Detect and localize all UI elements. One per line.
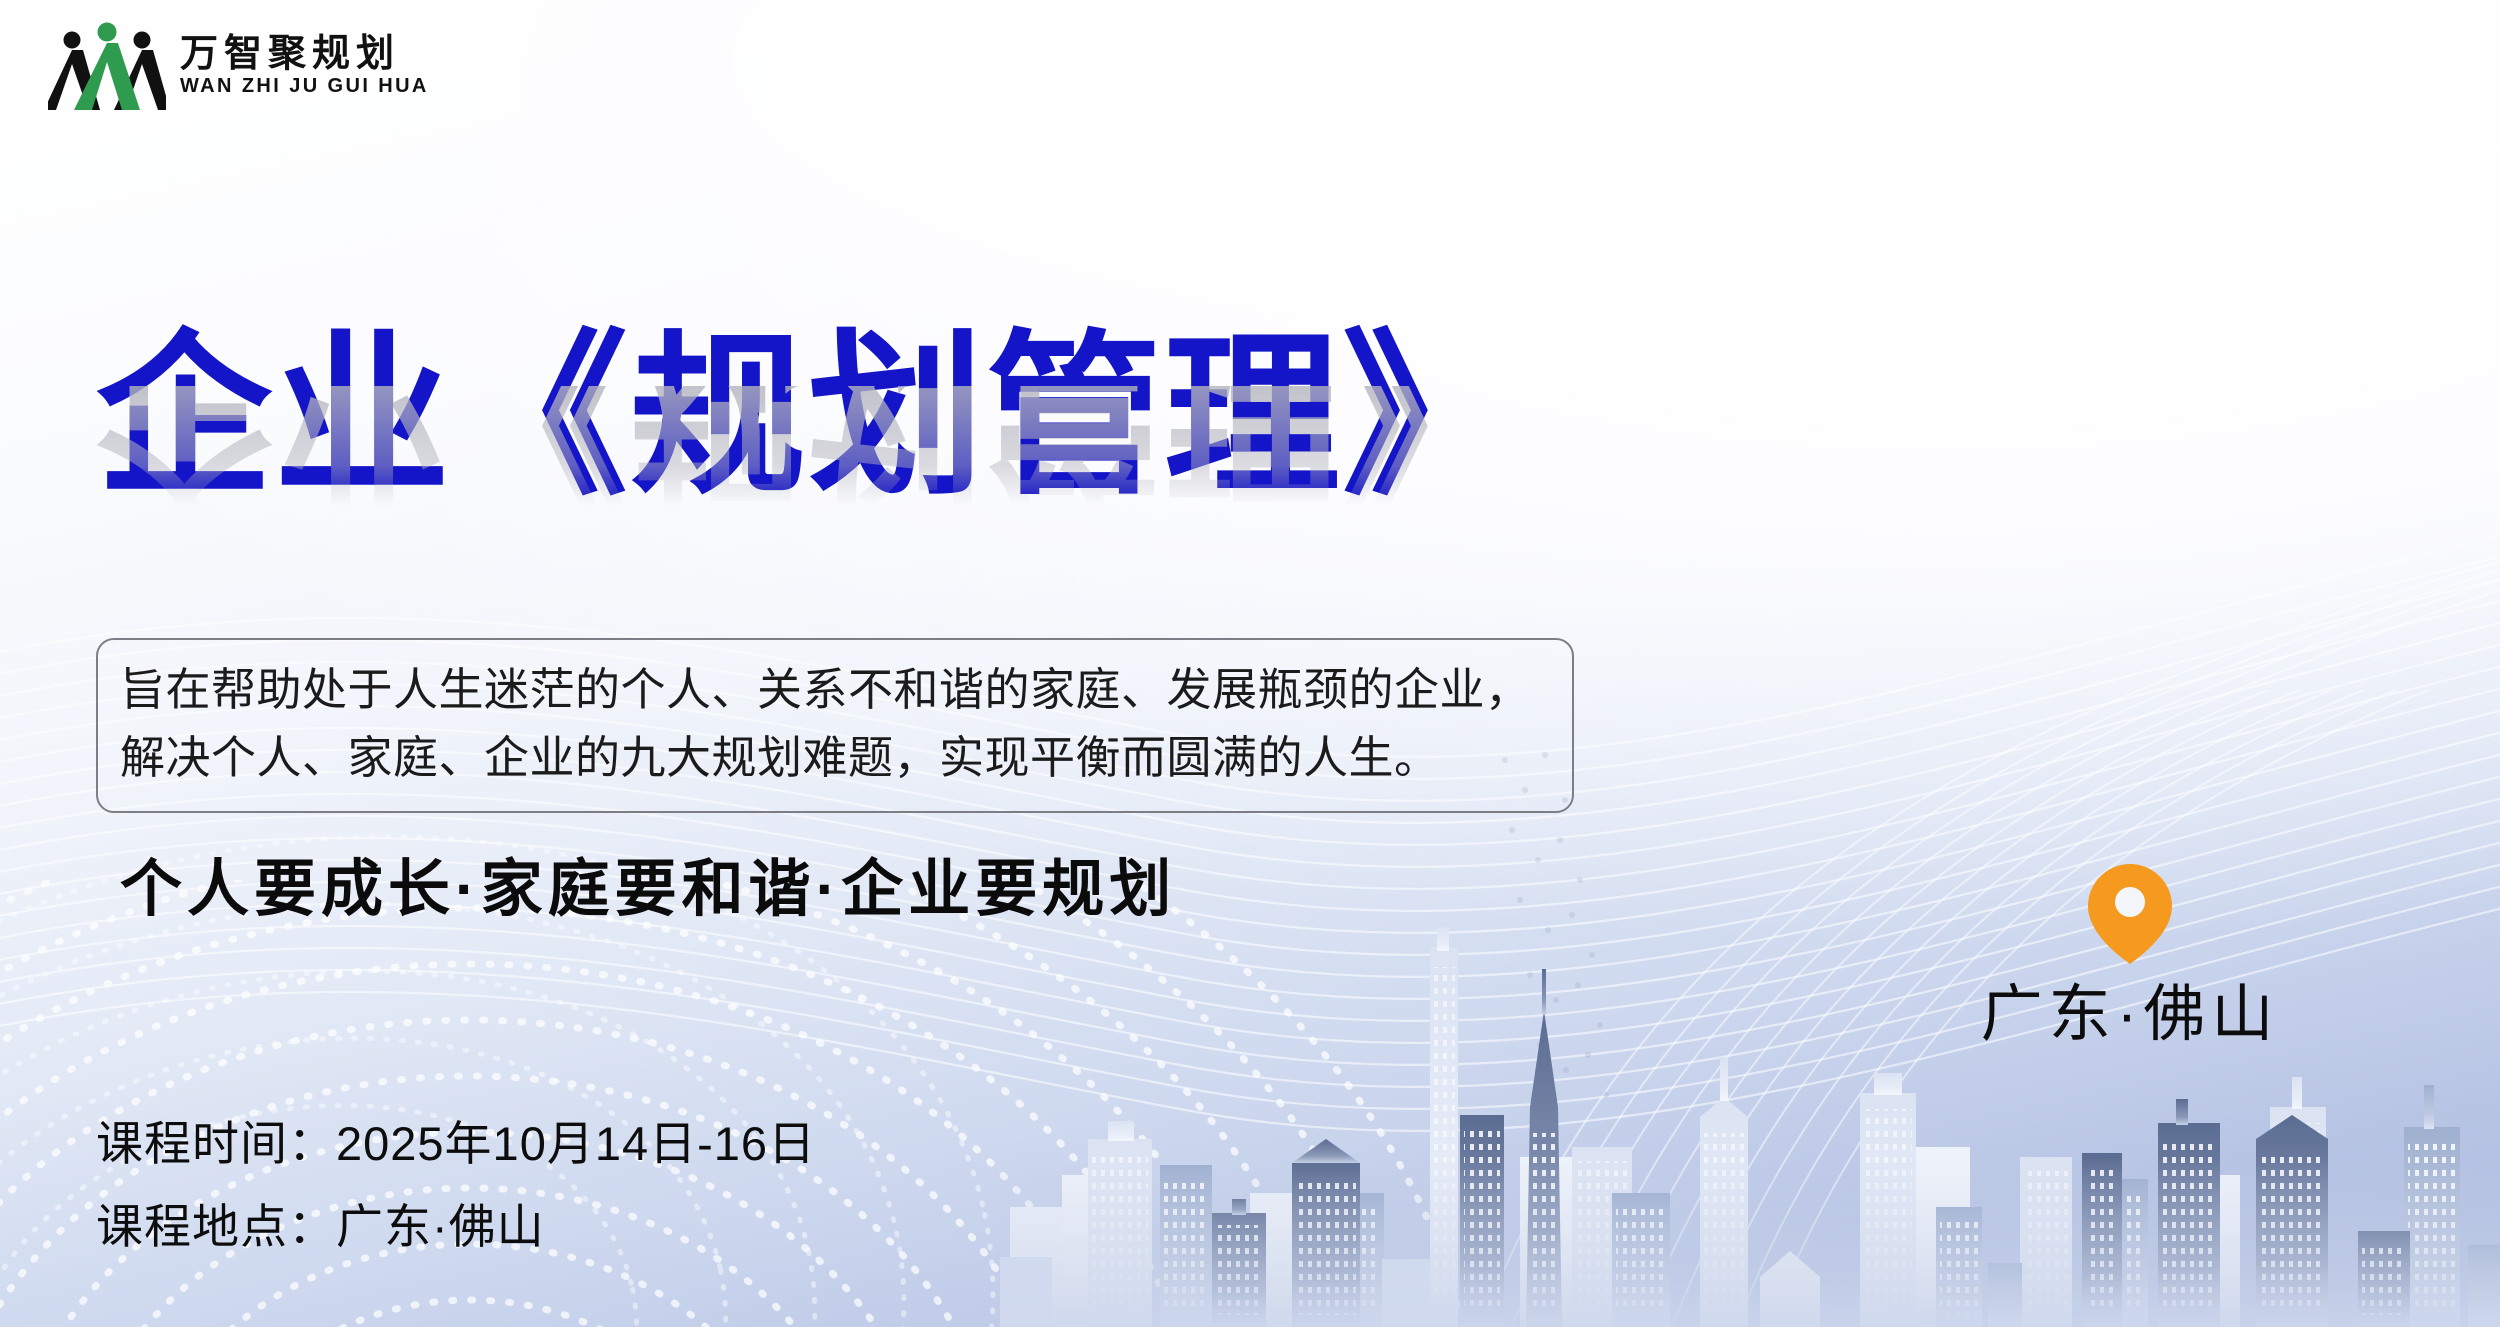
description-line-2: 解决个人、家庭、企业的九大规划难题，实现平衡而圆满的人生。 <box>120 724 1554 792</box>
location-badge: 广东·佛山 <box>1960 862 2300 1046</box>
page-title-reflection: 企业《规划管理》 <box>96 386 1520 514</box>
brand-logo[interactable]: 万智聚规划 WAN ZHI JU GUI HUA <box>48 18 429 114</box>
brand-name-cn: 万智聚规划 <box>180 35 429 75</box>
description-box: 旨在帮助处于人生迷茫的个人、关系不和谐的家庭、发展瓶颈的企业， 解决个人、家庭、… <box>96 638 1574 813</box>
description-line-1: 旨在帮助处于人生迷茫的个人、关系不和谐的家庭、发展瓶颈的企业， <box>120 656 1554 724</box>
location-label: 广东·佛山 <box>1981 984 2280 1046</box>
course-time: 课程时间：2025年10月14日-16日 <box>96 1120 816 1167</box>
brand-logo-text: 万智聚规划 WAN ZHI JU GUI HUA <box>180 35 429 98</box>
three-people-logo-icon <box>48 18 166 114</box>
location-pin-icon <box>2086 862 2174 966</box>
hero-title-block: 企业《规划管理》 企业《规划管理》 <box>96 322 1520 642</box>
brand-name-pinyin: WAN ZHI JU GUI HUA <box>180 76 429 97</box>
course-info-block: 课程时间：2025年10月14日-16日 课程地点：广东·佛山 <box>96 1120 816 1250</box>
slogan-text: 个人要成长·家庭要和谐·企业要规划 <box>120 838 1176 928</box>
course-place: 课程地点：广东·佛山 <box>96 1203 816 1250</box>
poster-canvas: 万智聚规划 WAN ZHI JU GUI HUA 企业《规划管理》 企业《规划管… <box>0 0 2500 1327</box>
